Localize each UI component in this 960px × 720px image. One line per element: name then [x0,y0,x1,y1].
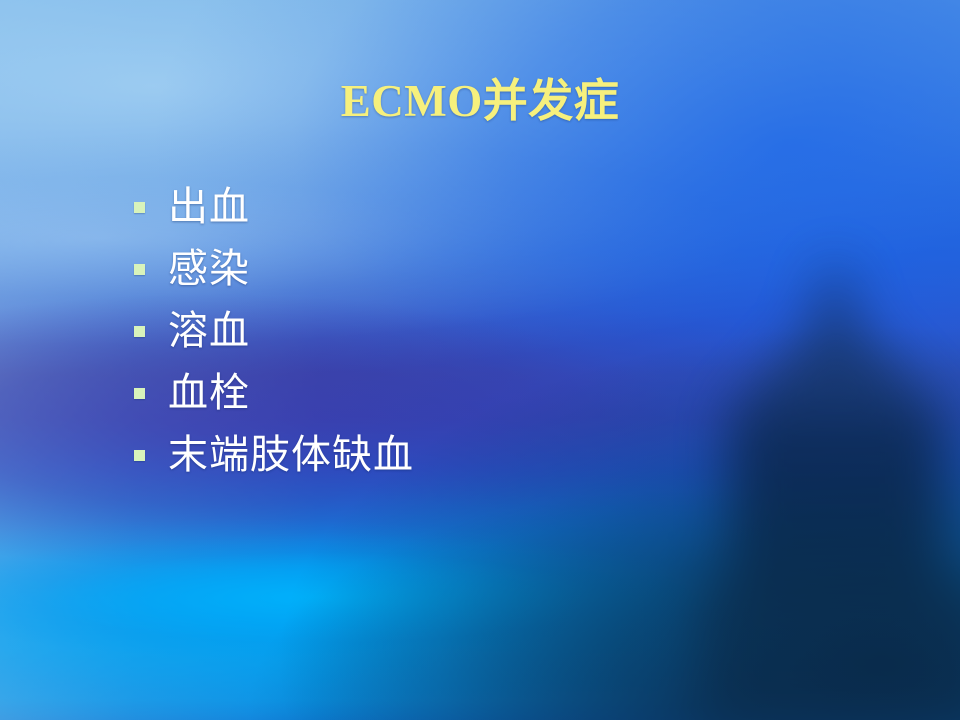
bullet-label: 血栓 [168,369,250,417]
bullet-label: 感染 [168,245,250,293]
square-bullet-icon [134,202,145,213]
bullet-item-2: 感染 [128,238,888,300]
bullet-item-3: 溶血 [128,300,888,362]
bullet-label: 溶血 [168,307,250,355]
bullet-item-5: 末端肢体缺血 [128,424,888,486]
slide-title: ECMO并发症 [0,74,960,128]
square-bullet-icon [134,264,145,275]
slide-content: ECMO并发症 出血 感染 溶血 血栓 末端肢体缺血 [0,0,960,720]
presentation-slide: ECMO并发症 出血 感染 溶血 血栓 末端肢体缺血 [0,0,960,720]
square-bullet-icon [134,450,145,461]
square-bullet-icon [134,326,145,337]
bullet-item-1: 出血 [128,176,888,238]
bullet-list: 出血 感染 溶血 血栓 末端肢体缺血 [128,176,888,486]
bullet-label: 出血 [168,183,250,231]
bullet-label: 末端肢体缺血 [168,431,414,479]
square-bullet-icon [134,388,145,399]
bullet-item-4: 血栓 [128,362,888,424]
